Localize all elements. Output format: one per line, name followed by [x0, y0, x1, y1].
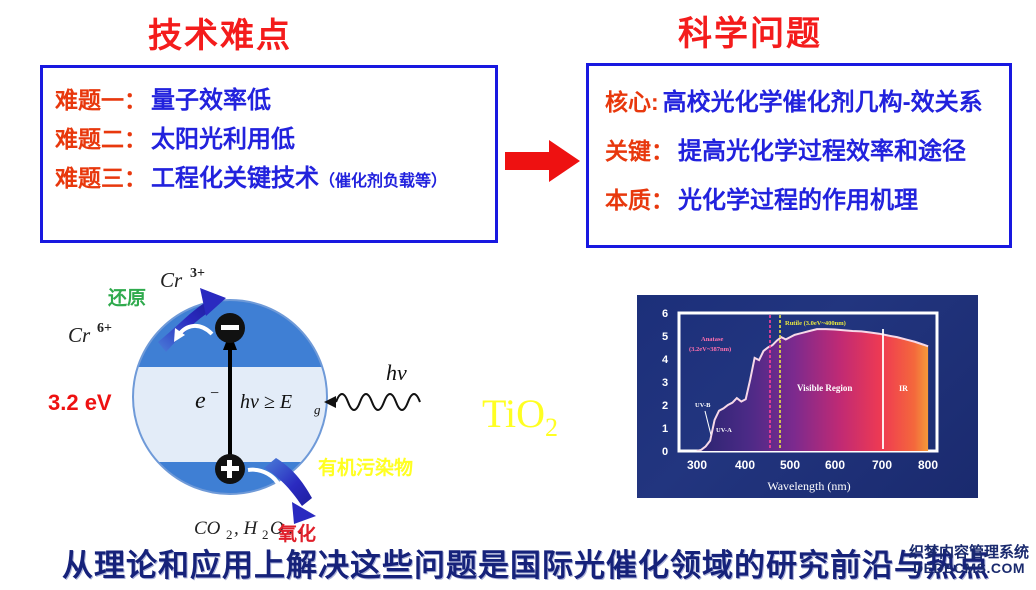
- list-item: 本质： 光化学过程的作用机理: [605, 180, 1009, 215]
- hole-badge: [215, 454, 245, 484]
- svg-text:700: 700: [872, 458, 892, 472]
- annotation-anatase-2: (3.2eV~387nm): [689, 346, 731, 353]
- chart-x-ticks: 300 400 500 600 700 800: [687, 458, 938, 472]
- svg-text:−: −: [210, 385, 219, 402]
- chart-x-axis-label: Wavelength (nm): [767, 479, 850, 493]
- svg-text:6+: 6+: [97, 321, 112, 336]
- annotation-anatase-1: Anatase: [701, 336, 724, 343]
- svg-text:5: 5: [662, 331, 668, 343]
- annotation-uva: UV-A: [716, 427, 732, 434]
- tio2-subscript: 2: [545, 413, 558, 442]
- difficulty-2-text: 太阳光利用低: [151, 119, 295, 154]
- technical-difficulties-panel: 难题一： 量子效率低 难题二： 太阳光利用低 难题三： 工程化关键技术 （催化剂…: [40, 65, 498, 243]
- solar-spectrum-chart: Rutile (3.0eV~400nm) Anatase (3.2eV~387n…: [637, 295, 978, 498]
- svg-text:6: 6: [662, 308, 668, 320]
- list-item: 关键： 提高光化学过程效率和途径: [605, 131, 1009, 166]
- svg-text:3: 3: [662, 377, 668, 389]
- question-essence-text: 光化学过程的作用机理: [678, 180, 918, 215]
- bottom-headline: 从理论和应用上解决这些问题是国际光催化领域的研究前沿与热点: [62, 540, 1022, 585]
- chart-y-ticks: 6 5 4 3 2 1 0: [662, 308, 669, 458]
- question-essence-label: 本质：: [605, 181, 674, 215]
- slide-canvas: 技术难点 科学问题 难题一： 量子效率低 难题二： 太阳光利用低 难题三： 工程…: [0, 0, 1036, 590]
- bandgap-energy-label: 3.2 eV: [48, 390, 112, 415]
- products-bottom-label: CO: [194, 518, 221, 539]
- annotation-uvb: UV-B: [695, 402, 711, 409]
- list-item: 难题三： 工程化关键技术 （催化剂负载等）: [55, 158, 495, 193]
- svg-text:3+: 3+: [190, 266, 205, 281]
- photocatalysis-mechanism-diagram: e − hν ≥ E g hν: [40, 262, 490, 544]
- svg-text:500: 500: [780, 458, 800, 472]
- electron-label: e: [195, 388, 206, 414]
- svg-text:400: 400: [735, 458, 755, 472]
- question-key-text: 提高光化学过程效率和途径: [678, 131, 966, 166]
- reduction-label: 还原: [107, 287, 146, 309]
- difficulty-1-label: 难题一：: [55, 81, 147, 115]
- svg-text:, H: , H: [234, 518, 259, 539]
- svg-text:300: 300: [687, 458, 707, 472]
- svg-text:4: 4: [662, 354, 669, 366]
- reactant-cr6-label: Cr: [68, 323, 91, 347]
- photon-label: hν: [386, 360, 407, 385]
- difficulty-3-text: 工程化关键技术: [151, 158, 319, 193]
- difficulty-3-label: 难题三：: [55, 159, 147, 193]
- question-core-text: 高校光化学催化剂几构-效关系: [663, 82, 983, 117]
- list-item: 难题一： 量子效率低: [55, 80, 495, 115]
- difficulty-3-note: （催化剂负载等）: [319, 167, 447, 191]
- difficulty-2-label: 难题二：: [55, 120, 147, 154]
- right-section-title: 科学问题: [678, 6, 822, 55]
- bandgap-condition-label: hν ≥ E: [240, 391, 292, 413]
- annotation-rutile: Rutile (3.0eV~400nm): [785, 320, 846, 327]
- list-item: 核心: 高校光化学催化剂几构-效关系: [605, 82, 1009, 117]
- left-section-title: 技术难点: [148, 8, 292, 57]
- svg-text:1: 1: [662, 423, 668, 435]
- tio2-formula-label: TiO2: [482, 390, 558, 443]
- question-list: 核心: 高校光化学催化剂几构-效关系 关键： 提高光化学过程效率和途径 本质： …: [589, 66, 1009, 215]
- question-key-label: 关键：: [605, 132, 674, 166]
- question-core-label: 核心:: [605, 83, 659, 117]
- svg-text:0: 0: [662, 446, 668, 458]
- list-item: 难题二： 太阳光利用低: [55, 119, 495, 154]
- annotation-visible: Visible Region: [797, 383, 852, 393]
- right-arrow-icon: [505, 140, 580, 182]
- svg-text:600: 600: [825, 458, 845, 472]
- annotation-ir: IR: [899, 384, 908, 393]
- pollutant-label: 有机污染物: [318, 456, 413, 479]
- svg-text:g: g: [314, 402, 321, 417]
- product-cr3-label: Cr: [160, 268, 183, 292]
- scientific-questions-panel: 核心: 高校光化学催化剂几构-效关系 关键： 提高光化学过程效率和途径 本质： …: [586, 63, 1012, 248]
- tio2-formula-text: TiO: [482, 391, 545, 436]
- electron-badge: [215, 313, 245, 343]
- svg-text:800: 800: [918, 458, 938, 472]
- difficulty-list: 难题一： 量子效率低 难题二： 太阳光利用低 难题三： 工程化关键技术 （催化剂…: [43, 68, 495, 193]
- difficulty-1-text: 量子效率低: [151, 80, 271, 115]
- svg-text:2: 2: [662, 400, 668, 412]
- photon-wave-icon: [324, 394, 420, 410]
